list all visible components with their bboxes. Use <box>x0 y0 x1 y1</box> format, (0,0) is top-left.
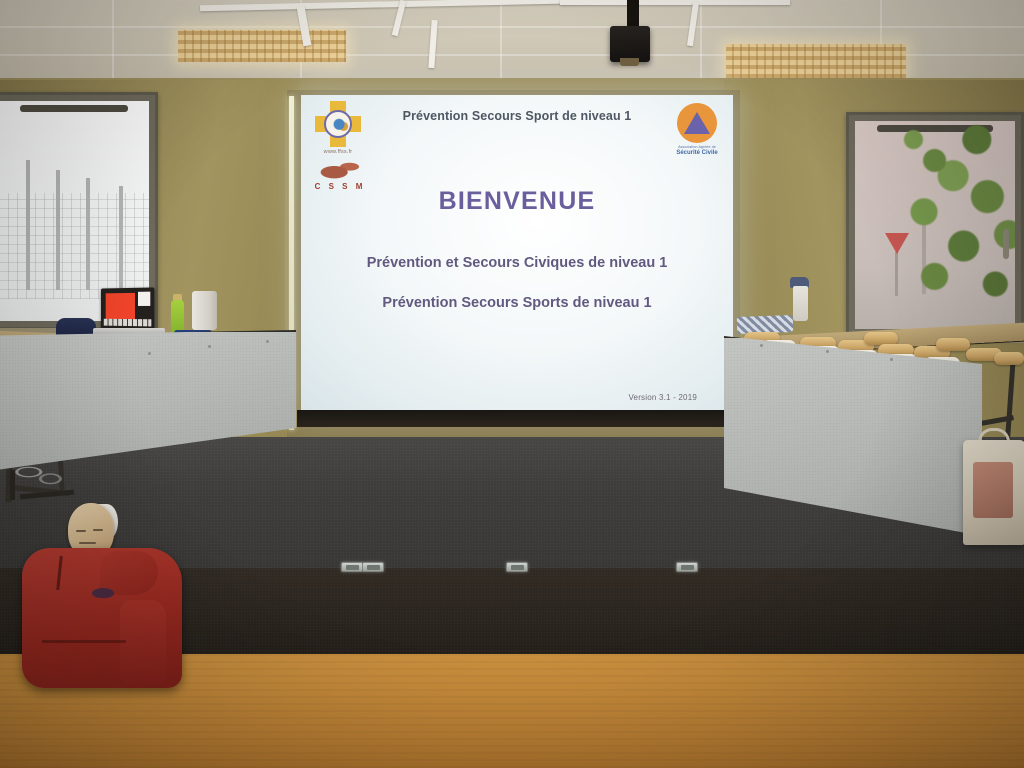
hoodie-logo <box>92 588 114 598</box>
window-vent-icon <box>20 105 128 112</box>
hoodie-pocket <box>42 640 126 670</box>
tote-bag <box>963 440 1024 545</box>
classroom-photo: www.ffss.fr C S S M Association Agréée d… <box>0 0 1024 768</box>
window-right[interactable] <box>846 112 1024 338</box>
screen-bottom-bar <box>297 410 737 427</box>
slide-welcome-text: BIENVENUE <box>301 187 733 216</box>
fence-mesh <box>0 193 149 299</box>
securite-civile-line2: Sécurité Civile <box>673 150 721 156</box>
mannequin-mouth <box>79 542 96 544</box>
slide-header-text: Prévention Secours Sport de niveau 1 <box>301 109 733 123</box>
projection-screen: www.ffss.fr C S S M Association Agréée d… <box>301 95 733 412</box>
floor-socket <box>676 562 698 572</box>
laptop-filmstrip <box>104 319 152 327</box>
slide-body-line-1: Prévention et Secours Civiques de niveau… <box>301 255 733 271</box>
ffss-cross-logo <box>315 101 361 147</box>
securite-civile-line1: Association Agréée de <box>673 145 721 149</box>
floor-socket <box>362 562 384 572</box>
hoodie-sleeve <box>120 600 166 686</box>
slide-version-label: Version 3.1 - 2019 <box>628 393 697 402</box>
window-right-pane <box>855 121 1015 329</box>
spray-bottle <box>793 286 808 321</box>
ceiling-light-right <box>726 44 906 78</box>
slide-body-line-2: Prévention Secours Sports de niveau 1 <box>301 295 733 311</box>
tree <box>895 121 1015 303</box>
ceiling-light-left <box>178 30 346 62</box>
laptop-slide-thumbnail <box>106 293 135 319</box>
ffss-url-text: www.ffss.fr <box>309 149 367 155</box>
laptop-screen[interactable] <box>101 287 155 329</box>
floor-socket <box>506 562 528 572</box>
laptop-panel <box>138 292 150 306</box>
window-handle[interactable] <box>1003 229 1009 259</box>
sandwich <box>994 352 1024 365</box>
paper-towel-roll <box>192 291 217 330</box>
sandwich <box>936 338 970 351</box>
ceiling-projector <box>610 26 650 62</box>
projector-lens <box>620 58 639 66</box>
floor-socket <box>341 562 363 572</box>
